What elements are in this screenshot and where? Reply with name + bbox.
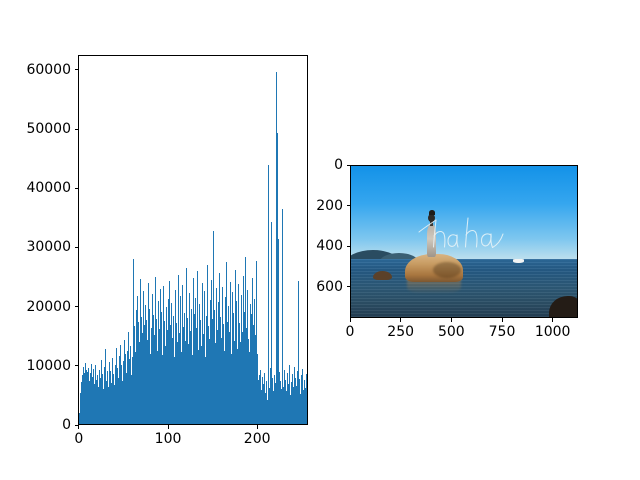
histogram-plot-area: [78, 55, 308, 425]
statue-crown: [429, 210, 435, 215]
image-xtick-mark: [451, 318, 452, 322]
image-xtick-mark: [552, 318, 553, 322]
histogram-ytick-label: 10000: [16, 359, 71, 373]
sea-region: [351, 259, 577, 317]
histogram-bar: [268, 165, 269, 424]
statue-head: [428, 214, 435, 222]
image-xtick-label: 1000: [523, 325, 583, 339]
image-ytick-label: 200: [302, 199, 343, 213]
sky-region: [351, 166, 577, 260]
histogram-xtick-label: 100: [138, 432, 198, 446]
histogram-bars: [79, 55, 308, 424]
image-ytick-label: 400: [302, 239, 343, 253]
histogram-xtick-mark: [78, 425, 79, 429]
histogram-ytick-label: 0: [16, 418, 71, 432]
image-ytick-label: 600: [302, 280, 343, 294]
statue-body: [427, 224, 436, 257]
histogram-frame: [78, 55, 308, 425]
histogram-ytick-label: 50000: [16, 122, 71, 136]
matplotlib-figure: 0100002000030000400005000060000 0100200 …: [0, 0, 640, 480]
photo-seascape-statue: [351, 166, 577, 317]
rock-shadow: [433, 262, 461, 278]
image-xtick-mark: [400, 318, 401, 322]
image-frame: [350, 165, 578, 318]
histogram-ytick-label: 20000: [16, 300, 71, 314]
histogram-ytick-label: 40000: [16, 181, 71, 195]
histogram-xtick-mark: [257, 425, 258, 429]
image-ytick-label: 0: [302, 158, 343, 172]
histogram-ytick-label: 60000: [16, 63, 71, 77]
image-xtick-mark: [502, 318, 503, 322]
histogram-ytick-label: 30000: [16, 240, 71, 254]
boat: [513, 259, 524, 263]
histogram-xtick-mark: [168, 425, 169, 429]
histogram-xtick-label: 0: [49, 432, 109, 446]
sea-shimmer: [351, 259, 577, 317]
histogram-bar: [307, 407, 308, 424]
image-plot-area: [350, 165, 578, 318]
image-xtick-mark: [350, 318, 351, 322]
small-rock-left: [373, 271, 392, 280]
histogram-xtick-label: 200: [227, 432, 287, 446]
